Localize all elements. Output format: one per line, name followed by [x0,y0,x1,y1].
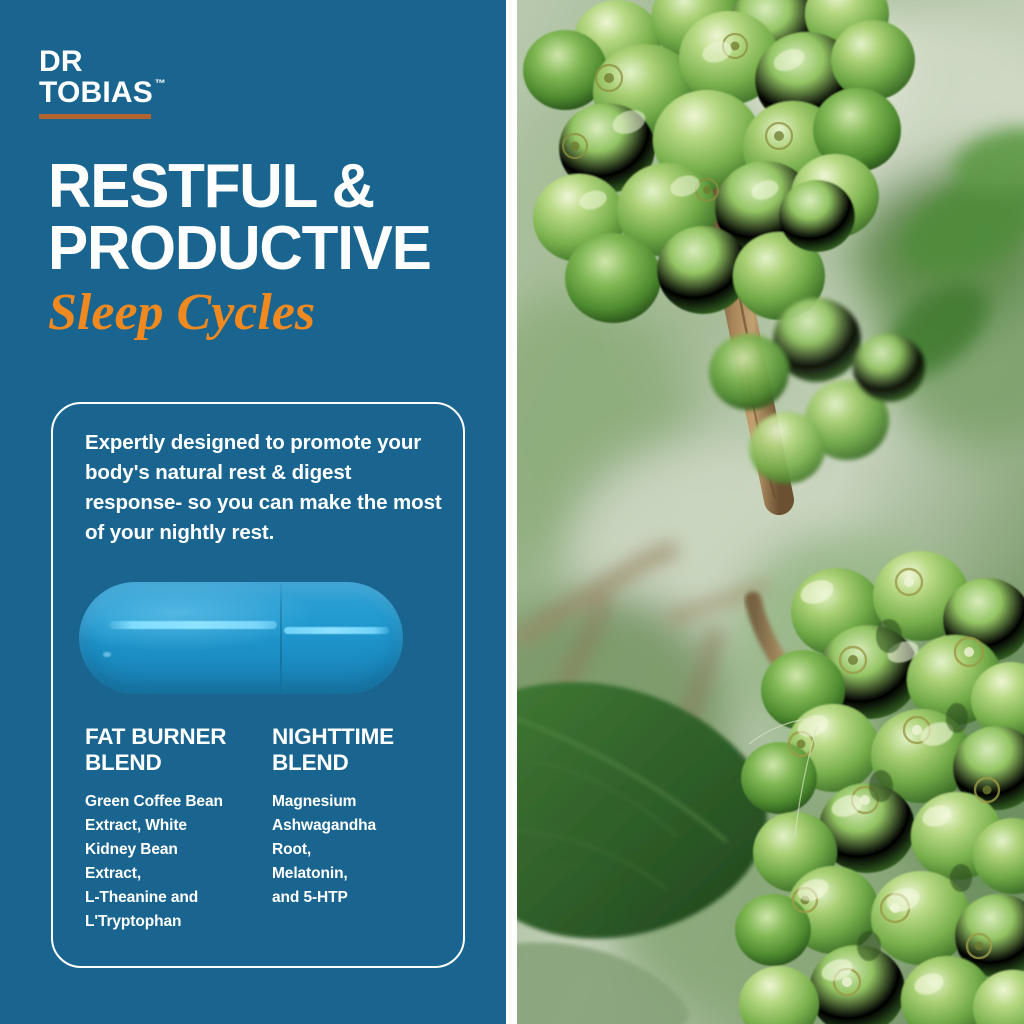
feature-card: Expertly designed to promote your body's… [51,402,465,968]
headline-block: RESTFUL & PRODUCTIVE Sleep Cycles [48,156,488,340]
ingredient-line: L'Tryptophan [85,910,254,934]
product-marketing-image: DR TOBIAS ™ RESTFUL & PRODUCTIVE Sleep C… [0,0,1024,1024]
blend-column-nighttime: NIGHTTIME BLEND Magnesium Ashwagandha Ro… [272,724,441,934]
blend-title-fat-burner: FAT BURNER BLEND [85,724,254,776]
ingredient-line: and 5-HTP [272,886,441,910]
blend-title-line-1: FAT BURNER [85,724,254,750]
ingredient-line: Melatonin, [272,862,441,886]
logo-underline-rule [39,114,151,119]
headline-line-2: PRODUCTIVE [48,218,475,280]
blend-ingredients-nighttime: Magnesium Ashwagandha Root, Melatonin, a… [272,790,441,910]
blend-column-fat-burner: FAT BURNER BLEND Green Coffee Bean Extra… [85,724,254,934]
logo-line-tobias: TOBIAS ™ [39,77,153,108]
coffee-cherries-photo [517,0,1024,1024]
ingredient-line: Ashwagandha [272,814,441,838]
capsule-highlight-right [284,627,389,634]
capsule-speck [103,652,111,657]
trademark-icon: ™ [155,79,166,90]
capsule-image [79,582,403,696]
card-body-copy: Expertly designed to promote your body's… [85,428,451,548]
headline-line-1: RESTFUL & [48,156,475,218]
coffee-cherries-illustration [517,0,1024,1024]
brand-logo: DR TOBIAS ™ [39,46,299,119]
logo-tobias-text: TOBIAS [39,76,153,109]
blend-title-line-2: BLEND [272,750,441,776]
ingredient-line: Kidney Bean [85,838,254,862]
ingredient-line: Extract, White [85,814,254,838]
ingredient-line: Green Coffee Bean [85,790,254,814]
logo-line-dr: DR [39,46,299,77]
headline-script-line: Sleep Cycles [48,286,488,340]
ingredient-line: Extract, [85,862,254,886]
capsule-seam [280,584,282,692]
blend-title-line-1: NIGHTTIME [272,724,441,750]
blend-title-line-2: BLEND [85,750,254,776]
left-info-panel: DR TOBIAS ™ RESTFUL & PRODUCTIVE Sleep C… [0,0,506,1024]
card-body-text: Expertly designed to promote your body's… [85,428,451,548]
blend-ingredients-fat-burner: Green Coffee Bean Extract, White Kidney … [85,790,254,934]
capsule-highlight-left [109,621,277,629]
blend-columns: FAT BURNER BLEND Green Coffee Bean Extra… [85,724,441,934]
ingredient-line: L-Theanine and [85,886,254,910]
ingredient-line: Magnesium [272,790,441,814]
ingredient-line: Root, [272,838,441,862]
blend-title-nighttime: NIGHTTIME BLEND [272,724,441,776]
blue-capsule-icon [79,582,403,694]
